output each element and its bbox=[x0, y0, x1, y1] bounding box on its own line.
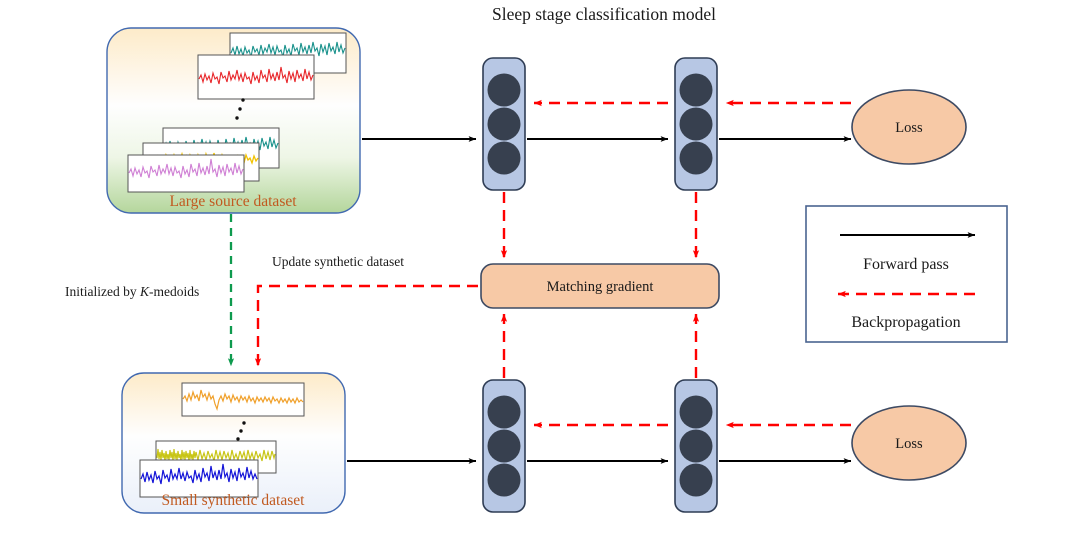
nn-node bbox=[488, 108, 521, 141]
nn-node bbox=[488, 430, 521, 463]
update-synthetic-dataset-label: Update synthetic dataset bbox=[272, 254, 404, 269]
waveform-card-violet bbox=[128, 155, 244, 192]
nn-node bbox=[680, 430, 713, 463]
legend-label-backpropagation: Backpropagation bbox=[851, 314, 960, 331]
page-title: Sleep stage classification model bbox=[492, 4, 716, 24]
nn-node bbox=[488, 396, 521, 429]
nn-node bbox=[680, 142, 713, 175]
nn-layer-top-1 bbox=[483, 58, 525, 190]
loss-bottom-label: Loss bbox=[895, 436, 923, 452]
initialized-by-suffix: -medoids bbox=[149, 284, 199, 299]
large-source-dataset: Large source dataset bbox=[107, 28, 360, 213]
loss-node-top: Loss bbox=[852, 90, 966, 164]
nn-layer-bottom-1 bbox=[483, 380, 525, 512]
nn-node bbox=[488, 464, 521, 497]
waveform-card-orange bbox=[182, 383, 304, 416]
initialized-by-label: Initialized by K-medoids bbox=[65, 284, 199, 299]
nn-node bbox=[680, 464, 713, 497]
diagram-root: Sleep stage classification model bbox=[0, 0, 1066, 546]
waveform-card-red bbox=[198, 55, 314, 99]
legend-label-forward-pass: Forward pass bbox=[863, 256, 949, 273]
matching-gradient-node: Matching gradient bbox=[481, 264, 719, 308]
nn-layer-top-2 bbox=[675, 58, 717, 190]
nn-node bbox=[680, 108, 713, 141]
legend-box: Forward pass Backpropagation bbox=[806, 206, 1007, 342]
nn-node bbox=[680, 74, 713, 107]
nn-node bbox=[488, 74, 521, 107]
matching-gradient-label: Matching gradient bbox=[547, 279, 654, 295]
loss-node-bottom: Loss bbox=[852, 406, 966, 480]
nn-node bbox=[488, 142, 521, 175]
pipeline-diagram: Sleep stage classification model bbox=[0, 0, 1066, 546]
initialized-by-prefix: Initialized by bbox=[65, 284, 140, 299]
loss-top-label: Loss bbox=[895, 120, 923, 136]
source-dataset-caption: Large source dataset bbox=[169, 193, 297, 210]
nn-layer-bottom-2 bbox=[675, 380, 717, 512]
small-synthetic-dataset: Small synthetic dataset bbox=[122, 373, 345, 513]
edge-update-synthetic-dataset bbox=[258, 286, 478, 366]
nn-node bbox=[680, 396, 713, 429]
synthetic-dataset-caption: Small synthetic dataset bbox=[162, 492, 306, 509]
